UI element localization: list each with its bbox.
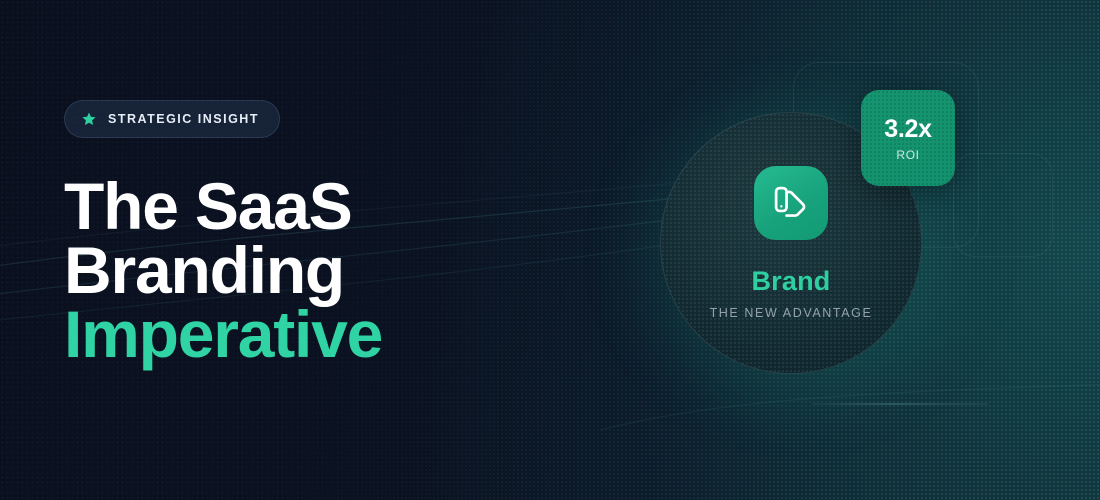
headline-line-1: The SaaS <box>64 174 524 238</box>
badge-label: STRATEGIC INSIGHT <box>108 112 259 126</box>
strategic-insight-badge[interactable]: STRATEGIC INSIGHT <box>64 100 280 138</box>
page-title: The SaaS Branding Imperative <box>64 174 524 366</box>
roi-stat-card: 3.2x ROI <box>861 90 955 186</box>
hero-text-block: STRATEGIC INSIGHT The SaaS Branding Impe… <box>64 100 524 366</box>
headline-line-3: Imperative <box>64 302 524 366</box>
roi-label: ROI <box>896 148 919 162</box>
brand-subtitle: THE NEW ADVANTAGE <box>710 306 873 320</box>
headline-line-2: Branding <box>64 238 524 302</box>
deco-horizontal-line <box>812 403 988 405</box>
star-icon <box>81 111 97 127</box>
roi-value: 3.2x <box>884 115 931 144</box>
color-swatch-icon <box>754 166 828 240</box>
hero-banner: STRATEGIC INSIGHT The SaaS Branding Impe… <box>0 0 1100 500</box>
brand-title: Brand <box>751 266 830 297</box>
